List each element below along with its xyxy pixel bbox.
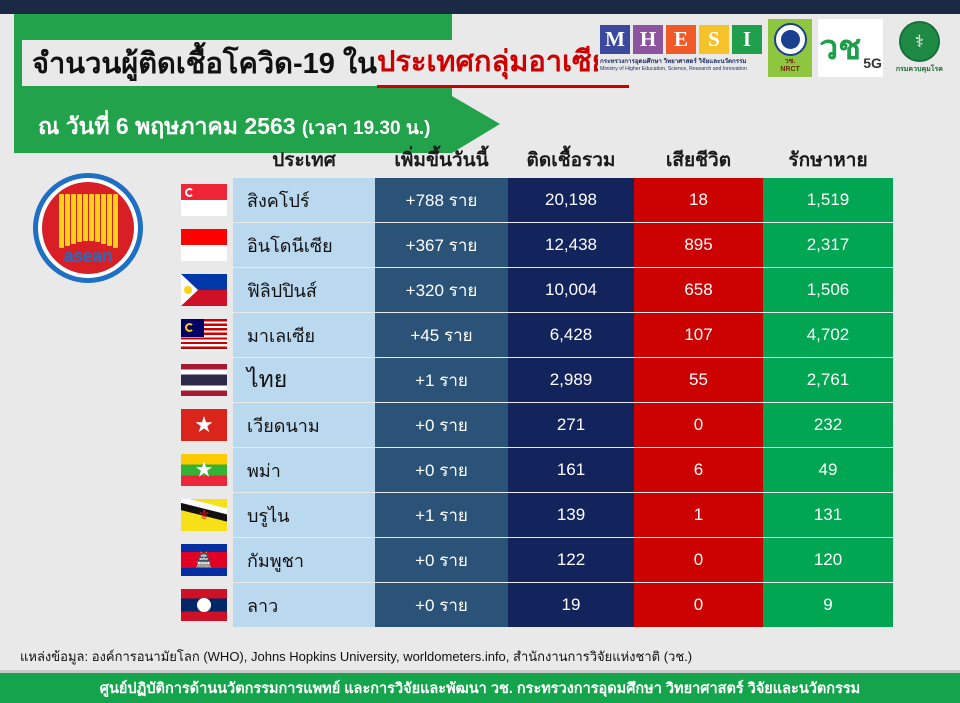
nrct-label-thai: วช. xyxy=(785,58,796,65)
table-row: สิงคโปร์ +788 ราย 20,198 18 1,519 xyxy=(175,178,895,222)
table-row: 🏯 กัมพูชา +0 ราย 122 0 120 xyxy=(175,538,895,582)
column-header-new-today: เพิ่มขึ้นวันนี้ xyxy=(375,145,508,178)
table-row: ฟิลิปปินส์ +320 ราย 10,004 658 1,506 xyxy=(175,268,895,312)
flag-indonesia-icon xyxy=(181,229,227,261)
infographic-page: จำนวนผู้ติดเชื้อโควิด-19 ในประเทศกลุ่มอา… xyxy=(0,0,960,703)
mhesi-letter-s: S xyxy=(699,25,729,54)
country-flag-cell xyxy=(175,583,233,627)
flag-singapore-icon xyxy=(181,184,227,216)
total-cases-cell: 10,004 xyxy=(508,268,634,312)
asean-rice-stalks-icon xyxy=(56,194,120,248)
dcd-seal-icon: ⚕ xyxy=(899,21,940,62)
country-flag-cell: ★ xyxy=(175,403,233,447)
recovered-cell: 1,519 xyxy=(763,178,893,222)
table-row: อินโดนีเซีย +367 ราย 12,438 895 2,317 xyxy=(175,223,895,267)
recovered-cell: 2,761 xyxy=(763,358,893,402)
header-banner: จำนวนผู้ติดเชื้อโควิด-19 ในประเทศกลุ่มอา… xyxy=(14,14,500,139)
flag-malaysia-icon xyxy=(181,319,227,351)
flag-laos-icon xyxy=(181,589,227,621)
total-cases-cell: 161 xyxy=(508,448,634,492)
top-navy-bar xyxy=(0,0,960,14)
country-flag-cell xyxy=(175,223,233,267)
column-header-country: ประเทศ xyxy=(233,145,375,178)
table-row: มาเลเซีย +45 ราย 6,428 107 4,702 xyxy=(175,313,895,357)
total-cases-cell: 12,438 xyxy=(508,223,634,267)
country-name-cell: มาเลเซีย xyxy=(233,313,375,357)
deaths-cell: 0 xyxy=(634,583,763,627)
total-cases-cell: 271 xyxy=(508,403,634,447)
mhesi-english-name: Ministry of Higher Education, Science, R… xyxy=(598,66,762,72)
total-cases-cell: 20,198 xyxy=(508,178,634,222)
recovered-cell: 49 xyxy=(763,448,893,492)
mhesi-logo: M H E S I กระทรวงการอุดมศึกษา วิทยาศาสตร… xyxy=(598,18,762,78)
recovered-cell: 1,506 xyxy=(763,268,893,312)
mhesi-letter-i: I xyxy=(732,25,762,54)
table-row: ⚜ บรูไน +1 ราย 139 1 131 xyxy=(175,493,895,537)
table-row: ★ พม่า +0 ราย 161 6 49 xyxy=(175,448,895,492)
footer-bar-text: ศูนย์ปฏิบัติการด้านนวัตกรรมการแพทย์ และก… xyxy=(100,677,860,700)
wch-glyph-icon: วช xyxy=(819,31,861,65)
column-header-total-cases: ติดเชื้อรวม xyxy=(508,145,634,178)
asean-logo: asean xyxy=(28,170,148,288)
recovered-cell: 2,317 xyxy=(763,223,893,267)
country-flag-cell: 🏯 xyxy=(175,538,233,582)
country-flag-cell xyxy=(175,313,233,357)
table-header-row: ประเทศ เพิ่มขึ้นวันนี้ ติดเชื้อรวม เสียช… xyxy=(175,146,895,178)
page-subtitle-time: (เวลา 19.30 น.) xyxy=(302,118,431,139)
mhesi-thai-name: กระทรวงการอุดมศึกษา วิทยาศาสตร์ วิจัยและ… xyxy=(598,56,762,66)
nrct-seal-inner xyxy=(781,30,800,49)
new-today-cell: +0 ราย xyxy=(375,448,508,492)
page-subtitle-date: ณ วันที่ 6 พฤษภาคม 2563 xyxy=(38,113,302,139)
data-source-note: แหล่งข้อมูล: องค์การอนามัยโลก (WHO), Joh… xyxy=(20,646,692,667)
total-cases-cell: 139 xyxy=(508,493,634,537)
new-today-cell: +0 ราย xyxy=(375,403,508,447)
deaths-cell: 0 xyxy=(634,403,763,447)
page-subtitle: ณ วันที่ 6 พฤษภาคม 2563 (เวลา 19.30 น.) xyxy=(38,109,430,145)
column-header-deaths: เสียชีวิต xyxy=(634,145,763,178)
page-title-red: ประเทศกลุ่มอาเซียน xyxy=(377,38,629,88)
country-flag-cell xyxy=(175,268,233,312)
deaths-cell: 18 xyxy=(634,178,763,222)
flag-myanmar-icon: ★ xyxy=(181,454,227,486)
mhesi-letter-e: E xyxy=(666,25,696,54)
country-name-cell: สิงคโปร์ xyxy=(233,178,375,222)
total-cases-cell: 2,989 xyxy=(508,358,634,402)
mhesi-letter-m: M xyxy=(600,25,630,54)
recovered-cell: 131 xyxy=(763,493,893,537)
recovered-cell: 120 xyxy=(763,538,893,582)
wch-5g-logo: วช 5G xyxy=(818,19,883,77)
flag-cambodia-icon: 🏯 xyxy=(181,544,227,576)
new-today-cell: +788 ราย xyxy=(375,178,508,222)
new-today-cell: +320 ราย xyxy=(375,268,508,312)
new-today-cell: +0 ราย xyxy=(375,583,508,627)
new-today-cell: +367 ราย xyxy=(375,223,508,267)
country-flag-cell: ★ xyxy=(175,448,233,492)
total-cases-cell: 19 xyxy=(508,583,634,627)
column-header-recovered: รักษาหาย xyxy=(763,145,893,178)
country-name-cell: ลาว xyxy=(233,583,375,627)
recovered-cell: 4,702 xyxy=(763,313,893,357)
nrct-seal-icon xyxy=(774,23,807,56)
table-row: ลาว +0 ราย 19 0 9 xyxy=(175,583,895,627)
nrct-logo: วช. NRCT xyxy=(768,19,812,77)
new-today-cell: +1 ราย xyxy=(375,358,508,402)
deaths-cell: 107 xyxy=(634,313,763,357)
page-title: จำนวนผู้ติดเชื้อโควิด-19 ในประเทศกลุ่มอา… xyxy=(22,40,600,86)
asean-wordmark: asean xyxy=(28,246,148,267)
country-flag-cell: ⚜ xyxy=(175,493,233,537)
country-name-cell: เวียดนาม xyxy=(233,403,375,447)
new-today-cell: +0 ราย xyxy=(375,538,508,582)
total-cases-cell: 6,428 xyxy=(508,313,634,357)
deaths-cell: 895 xyxy=(634,223,763,267)
recovered-cell: 232 xyxy=(763,403,893,447)
logo-strip: M H E S I กระทรวงการอุดมศึกษา วิทยาศาสตร… xyxy=(598,16,950,80)
department-disease-control-logo: ⚕ กรมควบคุมโรค xyxy=(889,18,950,78)
deaths-cell: 658 xyxy=(634,268,763,312)
flag-brunei-icon: ⚜ xyxy=(181,499,227,531)
deaths-cell: 1 xyxy=(634,493,763,537)
new-today-cell: +1 ราย xyxy=(375,493,508,537)
table-row-thailand: ไทย +1 ราย 2,989 55 2,761 xyxy=(175,358,895,402)
new-today-cell: +45 ราย xyxy=(375,313,508,357)
page-title-black: จำนวนผู้ติดเชื้อโควิด-19 ใน xyxy=(32,40,377,86)
footer-bar: ศูนย์ปฏิบัติการด้านนวัตกรรมการแพทย์ และก… xyxy=(0,673,960,703)
flag-philippines-icon xyxy=(181,274,227,306)
flag-vietnam-icon: ★ xyxy=(181,409,227,441)
wch-5g-tag: 5G xyxy=(863,55,882,77)
country-name-cell: กัมพูชา xyxy=(233,538,375,582)
country-name-cell: บรูไน xyxy=(233,493,375,537)
flag-thailand-icon xyxy=(181,364,227,396)
total-cases-cell: 122 xyxy=(508,538,634,582)
deaths-cell: 6 xyxy=(634,448,763,492)
deaths-cell: 0 xyxy=(634,538,763,582)
country-flag-cell xyxy=(175,178,233,222)
table-row: ★ เวียดนาม +0 ราย 271 0 232 xyxy=(175,403,895,447)
deaths-cell: 55 xyxy=(634,358,763,402)
country-name-cell: ไทย xyxy=(233,358,375,402)
country-flag-cell xyxy=(175,358,233,402)
mhesi-letter-blocks: M H E S I xyxy=(598,25,762,54)
dcd-label: กรมควบคุมโรค xyxy=(896,64,943,75)
country-name-cell: อินโดนีเซีย xyxy=(233,223,375,267)
covid-country-table: ประเทศ เพิ่มขึ้นวันนี้ ติดเชื้อรวม เสียช… xyxy=(175,146,895,628)
nrct-label: วช. NRCT xyxy=(780,58,799,73)
nrct-label-english: NRCT xyxy=(780,66,799,73)
country-name-cell: ฟิลิปปินส์ xyxy=(233,268,375,312)
country-name-cell: พม่า xyxy=(233,448,375,492)
mhesi-letter-h: H xyxy=(633,25,663,54)
recovered-cell: 9 xyxy=(763,583,893,627)
